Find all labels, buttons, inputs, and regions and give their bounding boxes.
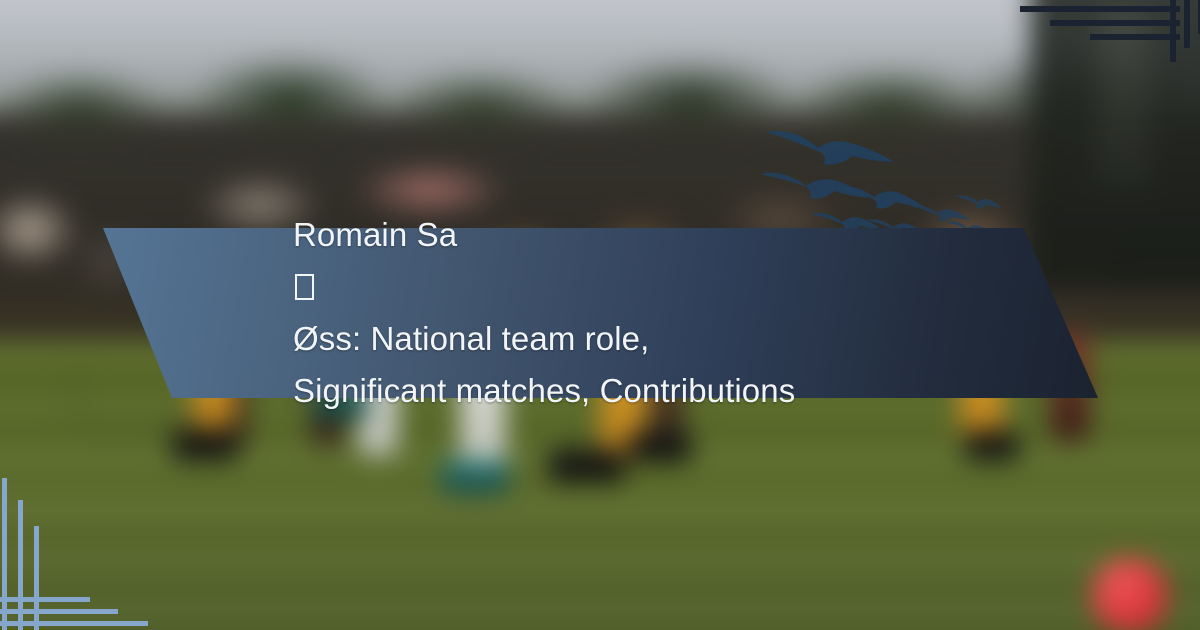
deco-line-horizontal <box>0 621 148 626</box>
player-boot <box>628 430 692 462</box>
share-card: Romain SaØss: National team role, Signif… <box>0 0 1200 630</box>
corner-bracket-bottom-left <box>0 440 200 630</box>
page-title-line-1: Romain SaØss: National team role, <box>293 209 1080 365</box>
deco-line-horizontal <box>0 609 118 614</box>
page-title-line-1-after: Øss: National team role, <box>293 313 1080 365</box>
page-title: Romain SaØss: National team role, Signif… <box>0 228 1200 398</box>
player-boot <box>548 448 626 482</box>
deco-line-horizontal <box>0 597 90 602</box>
deco-line-vertical <box>34 526 39 630</box>
deco-line-vertical <box>1184 0 1190 48</box>
deco-line-horizontal <box>1020 6 1180 12</box>
page-title-line-2: Significant matches, Contributions <box>293 365 1080 417</box>
deco-line-horizontal <box>1090 34 1180 40</box>
corner-bracket-top-right <box>1020 0 1200 80</box>
page-title-line-1-before: Romain Sa <box>293 209 1080 261</box>
deco-line-vertical <box>2 478 7 630</box>
deco-line-horizontal <box>1050 20 1180 26</box>
player-boot <box>964 430 1020 460</box>
player-boot <box>440 460 510 494</box>
missing-glyph-box-icon <box>295 274 315 300</box>
football-ball <box>1092 558 1168 630</box>
deco-line-vertical <box>1170 0 1176 62</box>
